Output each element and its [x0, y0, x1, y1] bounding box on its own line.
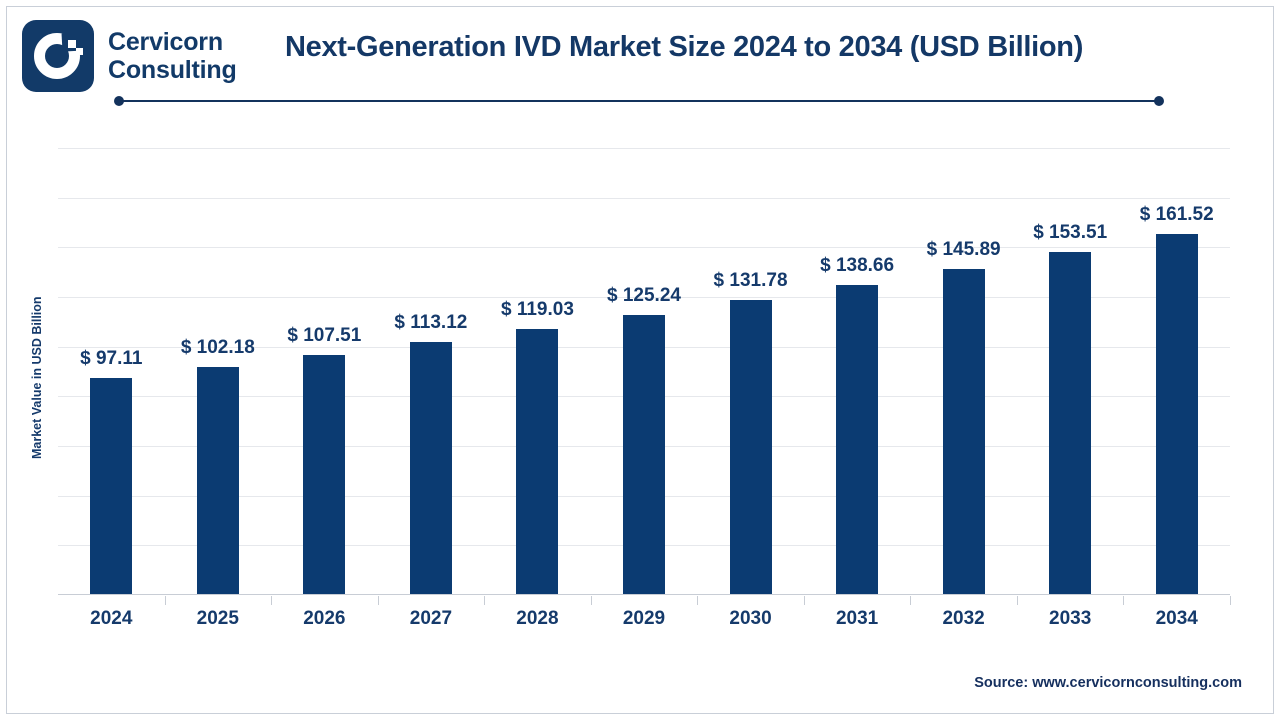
bar-slot: $ 153.51 — [1017, 148, 1124, 595]
brand-logo[interactable]: Cervicorn Consulting — [22, 20, 237, 92]
bar-value-label: $ 102.18 — [181, 337, 255, 359]
x-tick-label-2031: 2031 — [804, 608, 911, 630]
x-tick-mark — [165, 596, 166, 605]
bar-2025[interactable] — [197, 367, 239, 595]
x-tick-mark — [484, 596, 485, 605]
title-divider — [114, 95, 1164, 107]
bar-2024[interactable] — [90, 378, 132, 595]
bar-value-label: $ 107.51 — [287, 325, 361, 347]
divider-dot-right-icon — [1154, 96, 1164, 106]
chart-page: Cervicorn Consulting Next-Generation IVD… — [0, 0, 1280, 720]
bar-2030[interactable] — [730, 300, 772, 595]
bar-2028[interactable] — [516, 329, 558, 595]
x-tick-mark — [1230, 596, 1231, 605]
bar-2033[interactable] — [1049, 252, 1091, 595]
x-tick-mark — [1017, 596, 1018, 605]
x-tick-label-2028: 2028 — [484, 608, 591, 630]
y-axis-title: Market Value in USD Billion — [30, 268, 52, 488]
x-tick-mark — [591, 596, 592, 605]
logo-square-1-shape — [68, 40, 76, 48]
cervicorn-c-logo-icon — [22, 20, 94, 92]
bar-2026[interactable] — [303, 355, 345, 595]
bar-value-label: $ 97.11 — [80, 348, 142, 370]
chart-plot-area: $ 97.11$ 102.18$ 107.51$ 113.12$ 119.03$… — [58, 148, 1230, 595]
bar-slot: $ 119.03 — [484, 148, 591, 595]
x-tick-label-2027: 2027 — [378, 608, 485, 630]
bar-2027[interactable] — [410, 342, 452, 595]
x-tick-label-2030: 2030 — [697, 608, 804, 630]
bar-slot: $ 161.52 — [1123, 148, 1230, 595]
bars-group: $ 97.11$ 102.18$ 107.51$ 113.12$ 119.03$… — [58, 148, 1230, 595]
bar-slot: $ 125.24 — [591, 148, 698, 595]
bar-slot: $ 107.51 — [271, 148, 378, 595]
logo-square-3-shape — [69, 55, 75, 61]
bar-2034[interactable] — [1156, 234, 1198, 595]
bar-slot: $ 113.12 — [378, 148, 485, 595]
brand-name-line-2: Consulting — [108, 56, 237, 85]
x-tick-label-2032: 2032 — [910, 608, 1017, 630]
bar-2032[interactable] — [943, 269, 985, 595]
divider-line — [119, 100, 1159, 102]
x-axis-ticks: 2024202520262027202820292030203120322033… — [58, 596, 1230, 636]
x-tick-label-2026: 2026 — [271, 608, 378, 630]
bar-2029[interactable] — [623, 315, 665, 595]
bar-value-label: $ 161.52 — [1140, 204, 1214, 226]
source-label: Source: www.cervicornconsulting.com — [974, 675, 1242, 691]
x-tick-mark — [910, 596, 911, 605]
bar-value-label: $ 113.12 — [394, 312, 467, 334]
bar-value-label: $ 131.78 — [714, 270, 788, 292]
bar-value-label: $ 138.66 — [820, 255, 894, 277]
x-tick-label-2024: 2024 — [58, 608, 165, 630]
bar-value-label: $ 125.24 — [607, 285, 681, 307]
x-tick-mark — [1123, 596, 1124, 605]
x-tick-label-2034: 2034 — [1123, 608, 1230, 630]
chart-header: Cervicorn Consulting Next-Generation IVD… — [0, 0, 1280, 120]
bar-slot: $ 102.18 — [165, 148, 272, 595]
logo-square-2-shape — [76, 48, 83, 55]
x-axis-baseline — [58, 594, 1230, 595]
x-tick-label-2033: 2033 — [1017, 608, 1124, 630]
bar-value-label: $ 119.03 — [501, 299, 574, 321]
bar-2031[interactable] — [836, 285, 878, 595]
x-tick-label-2029: 2029 — [591, 608, 698, 630]
bar-slot: $ 97.11 — [58, 148, 165, 595]
x-tick-mark — [804, 596, 805, 605]
brand-name-line-1: Cervicorn — [108, 28, 237, 57]
bar-slot: $ 145.89 — [910, 148, 1017, 595]
x-tick-label-2025: 2025 — [165, 608, 272, 630]
bar-value-label: $ 145.89 — [927, 239, 1001, 261]
brand-name: Cervicorn Consulting — [108, 28, 237, 85]
x-tick-mark — [697, 596, 698, 605]
bar-value-label: $ 153.51 — [1033, 222, 1107, 244]
bar-slot: $ 131.78 — [697, 148, 804, 595]
x-tick-mark — [378, 596, 379, 605]
bar-slot: $ 138.66 — [804, 148, 911, 595]
page-title: Next-Generation IVD Market Size 2024 to … — [285, 31, 1205, 64]
x-tick-mark — [271, 596, 272, 605]
